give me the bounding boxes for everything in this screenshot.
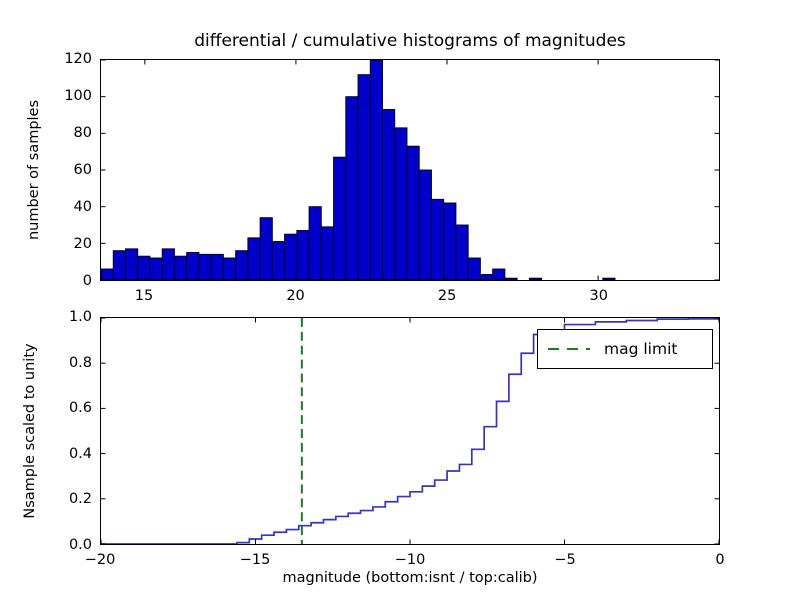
histogram-bar xyxy=(236,251,248,280)
histogram-bar xyxy=(199,254,211,280)
histogram-bar xyxy=(419,170,431,280)
xtick-label: −10 xyxy=(395,552,426,568)
matplotlib-figure: differential / cumulative histograms of … xyxy=(0,0,800,600)
ytick-label: 0.0 xyxy=(22,537,92,553)
histogram-bar xyxy=(272,242,284,281)
histogram-bar xyxy=(138,256,150,280)
histogram-bar xyxy=(174,256,186,280)
histogram-bar xyxy=(346,97,358,280)
figure-xlabel: magnitude (bottom:isnt / top:calib) xyxy=(100,570,720,586)
histogram-bar xyxy=(334,157,346,280)
histogram-bar xyxy=(480,275,492,281)
histogram-bar xyxy=(358,75,370,280)
mag-limit-line-icon xyxy=(548,348,590,350)
histogram-bar xyxy=(321,227,333,280)
xtick-label: 30 xyxy=(589,288,607,304)
legend-label-mag-limit: mag limit xyxy=(604,340,677,358)
ytick-label: 40 xyxy=(22,199,92,215)
histogram-bar xyxy=(101,269,113,280)
histogram-bar xyxy=(529,278,541,280)
histogram-bar xyxy=(431,199,443,280)
xtick-label: 0 xyxy=(715,552,724,568)
figure-title: differential / cumulative histograms of … xyxy=(100,31,720,51)
histogram-bar xyxy=(493,269,505,280)
ytick-label: 20 xyxy=(22,236,92,252)
xtick-label: 25 xyxy=(438,288,456,304)
histogram-bar xyxy=(150,258,162,280)
histogram-bar xyxy=(468,258,480,280)
histogram-bar xyxy=(260,218,272,280)
histogram-bar xyxy=(370,60,382,280)
differential-histogram-axes xyxy=(100,59,720,281)
xtick-label: 15 xyxy=(135,288,153,304)
histogram-bar xyxy=(407,146,419,280)
xtick-label: −15 xyxy=(240,552,271,568)
histogram-bar xyxy=(211,254,223,280)
histogram-bar xyxy=(382,110,394,281)
histogram-bar xyxy=(456,225,468,280)
ytick-label: 80 xyxy=(22,125,92,141)
bottom-panel-ylabel: Nsample scaled to unity xyxy=(22,317,38,545)
histogram-bar xyxy=(297,231,309,281)
histogram-bar xyxy=(309,207,321,280)
xtick-label: −5 xyxy=(554,552,575,568)
ytick-label: 1.0 xyxy=(22,309,92,325)
ytick-label: 0.4 xyxy=(22,446,92,462)
histogram-bar xyxy=(187,253,199,281)
histogram-bar xyxy=(285,234,297,280)
legend: mag limit xyxy=(537,329,713,369)
ytick-label: 0.2 xyxy=(22,491,92,507)
xtick-label: −20 xyxy=(85,552,116,568)
differential-histogram-plot xyxy=(101,60,719,280)
ytick-label: 0 xyxy=(22,273,92,289)
histogram-bar xyxy=(223,258,235,280)
ytick-label: 0.6 xyxy=(22,400,92,416)
histogram-bar xyxy=(603,278,615,280)
ytick-label: 100 xyxy=(22,88,92,104)
histogram-bar xyxy=(505,278,517,280)
ytick-label: 0.8 xyxy=(22,355,92,371)
histogram-bar xyxy=(444,203,456,280)
ytick-label: 60 xyxy=(22,162,92,178)
ytick-label: 120 xyxy=(22,51,92,67)
xtick-label: 20 xyxy=(286,288,304,304)
histogram-bar xyxy=(113,251,125,280)
histogram-bar xyxy=(162,249,174,280)
histogram-bar xyxy=(248,238,260,280)
histogram-bar xyxy=(395,128,407,280)
histogram-bar xyxy=(125,249,137,280)
